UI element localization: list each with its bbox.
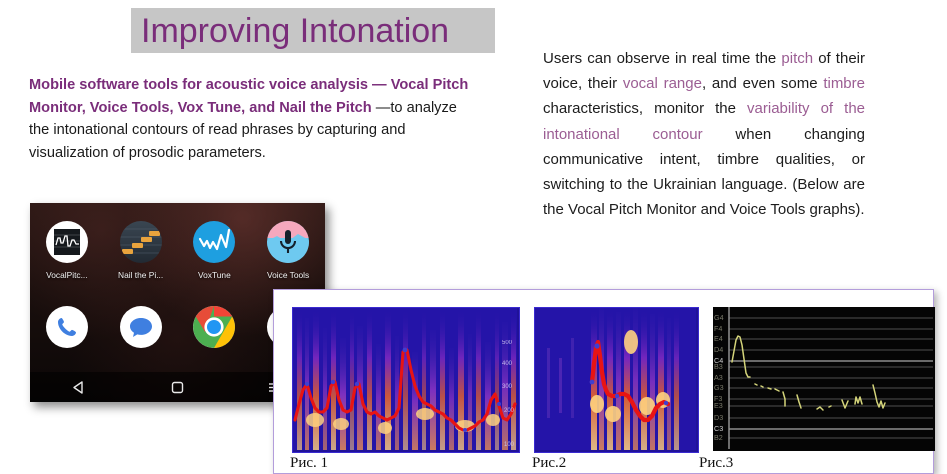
note-label-B2: B2	[714, 433, 723, 442]
note-label-A3: A3	[714, 373, 723, 382]
fig1-tick-400: 400	[502, 361, 513, 367]
app-voxtune[interactable]: VoxTune	[178, 221, 252, 280]
app-vocal-pitch-monitor[interactable]: VocalPitc...	[30, 221, 104, 280]
fig1-tick-500: 500	[502, 340, 513, 346]
figures-panel: 500 400 300 200 100	[273, 289, 934, 474]
app-voice-tools[interactable]: Voice Tools	[251, 221, 325, 280]
figure-2-spectrogram	[534, 307, 697, 451]
fig1-tick-100: 100	[504, 442, 515, 448]
back-button[interactable]	[30, 380, 128, 395]
messages-icon	[120, 306, 162, 348]
app-messages[interactable]	[104, 306, 178, 355]
figure-1-caption: Рис. 1	[290, 455, 328, 472]
spectrogram-2-canvas	[534, 307, 699, 453]
note-label-E4: E4	[714, 334, 723, 343]
note-label-D3: D3	[714, 413, 723, 422]
back-triangle-icon	[72, 380, 87, 395]
vocal-pitch-monitor-icon	[46, 221, 88, 263]
app-nail-the-pitch[interactable]: Nail the Pi...	[104, 221, 178, 280]
note-label-E3: E3	[714, 401, 723, 410]
right-description-paragraph: Users can observe in real time the pitch…	[543, 46, 865, 222]
note-label-F4: F4	[714, 324, 722, 333]
nail-the-pitch-icon	[120, 221, 162, 263]
left-description-paragraph: Mobile software tools for acoustic voice…	[29, 74, 469, 164]
page-title: Improving Intonation	[141, 9, 491, 53]
right-seg-6: characteristics, monitor the	[543, 100, 747, 117]
app-phone[interactable]	[30, 306, 104, 355]
figure-1-spectrogram: 500 400 300 200 100	[292, 307, 518, 451]
right-seg-pitch: pitch	[781, 50, 813, 67]
slide-canvas: Improving Intonation Mobile software too…	[0, 0, 947, 474]
phone-icon	[46, 306, 88, 348]
app-chrome[interactable]	[178, 306, 252, 355]
home-button[interactable]	[128, 380, 226, 395]
figure-2-caption: Рис.2	[532, 455, 566, 472]
fig1-tick-200: 200	[504, 408, 515, 414]
note-label-C3: C3	[714, 424, 723, 433]
app-row-1: VocalPitc...	[30, 221, 325, 280]
voxtune-icon	[193, 221, 235, 263]
home-square-icon	[170, 380, 185, 395]
figure-3-note-chart: G4 F4 E4 D4 C4 B3 A3 G3 F3 E3 D3 C3 B2	[713, 307, 935, 451]
voice-tools-icon	[267, 221, 309, 263]
chrome-icon	[193, 306, 235, 348]
note-label-G4: G4	[714, 313, 724, 322]
right-seg-0: Users can observe in real time the	[543, 50, 781, 67]
spectrogram-1-canvas: 500 400 300 200 100	[292, 307, 520, 453]
app-label: Voice Tools	[267, 270, 309, 280]
note-chart-canvas: G4 F4 E4 D4 C4 B3 A3 G3 F3 E3 D3 C3 B2	[713, 307, 935, 451]
note-label-B3: B3	[714, 362, 723, 371]
note-label-G3: G3	[714, 383, 724, 392]
app-label: VoxTune	[198, 270, 231, 280]
right-seg-4: , and even some	[702, 75, 823, 92]
figure-3-caption: Рис.3	[699, 455, 733, 472]
right-seg-vocal-range: vocal range	[623, 75, 702, 92]
app-label: VocalPitc...	[46, 270, 87, 280]
app-label: Nail the Pi...	[118, 270, 163, 280]
note-label-D4: D4	[714, 345, 723, 354]
right-seg-timbre: timbre	[823, 75, 865, 92]
fig1-tick-300: 300	[502, 384, 513, 390]
